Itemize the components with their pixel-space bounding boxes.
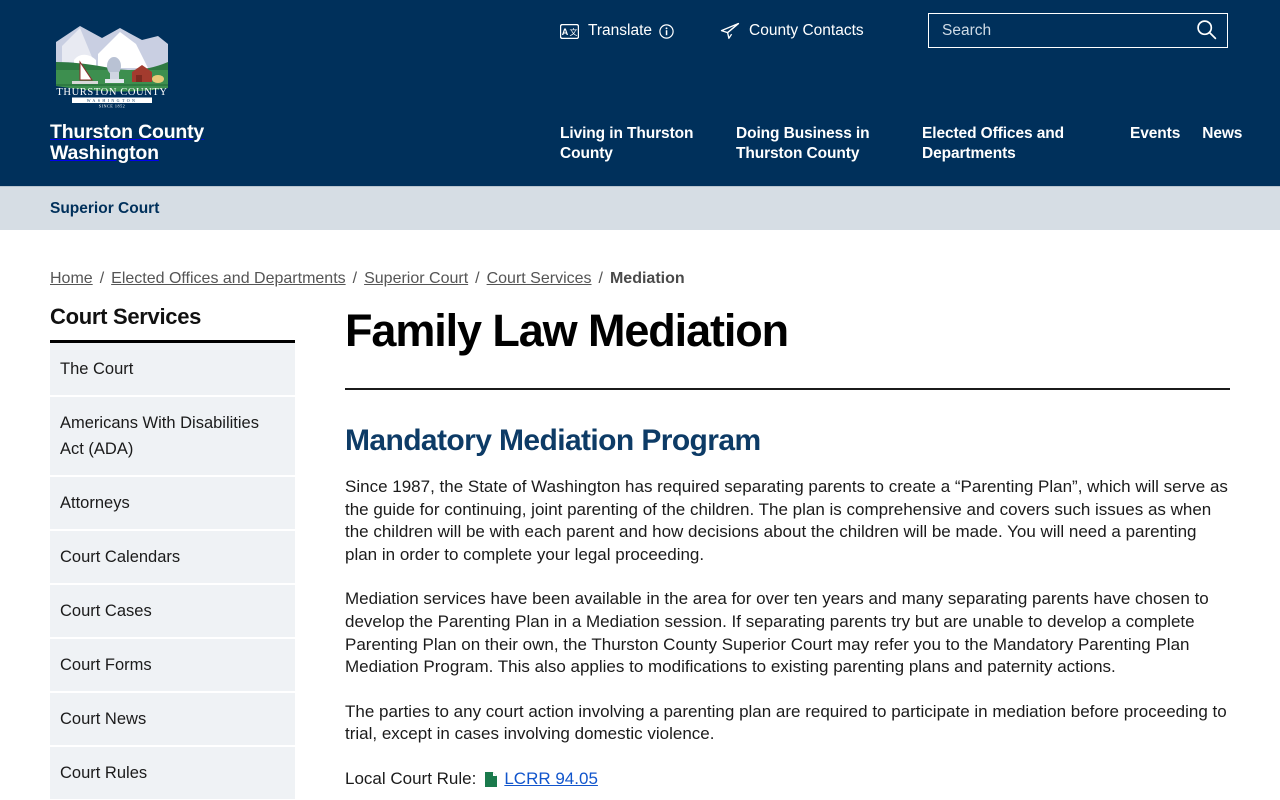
breadcrumb-separator: /: [353, 270, 357, 288]
pdf-file-icon: [484, 771, 498, 788]
breadcrumb-item-current: Mediation: [610, 270, 685, 288]
sidebar-item-the-court[interactable]: The Court: [50, 343, 295, 397]
utility-nav: A 文 Translate County Contacts: [560, 14, 864, 48]
nav-item-events[interactable]: Events: [1130, 124, 1180, 144]
breadcrumb-item-court-services[interactable]: Court Services: [487, 270, 592, 288]
body-paragraph-1: Since 1987, the State of Washington has …: [345, 476, 1230, 566]
search-submit-button[interactable]: [1196, 19, 1217, 43]
local-court-rule-link[interactable]: LCRR 94.05: [504, 768, 598, 791]
county-seal-icon: THURSTON COUNTY WASHINGTON SINCE 1852: [50, 22, 174, 108]
nav-item-doing-business-in-thurston-county[interactable]: Doing Business in Thurston County: [736, 124, 922, 163]
breadcrumb-item-superior-court[interactable]: Superior Court: [364, 270, 468, 288]
site-logo-link[interactable]: THURSTON COUNTY WASHINGTON SINCE 1852 Th…: [50, 22, 280, 163]
svg-text:WASHINGTON: WASHINGTON: [87, 98, 138, 103]
sidebar-item-court-cases[interactable]: Court Cases: [50, 585, 295, 639]
page-title: Family Law Mediation: [345, 304, 1230, 358]
section-heading: Mandatory Mediation Program: [345, 424, 1230, 458]
breadcrumb-separator: /: [475, 270, 479, 288]
sidebar: Court Services The Court Americans With …: [50, 304, 295, 800]
paper-plane-icon: [720, 22, 740, 40]
main-navigation: Living in Thurston County Doing Business…: [560, 124, 1242, 163]
site-wordmark: Thurston County Washington: [50, 122, 280, 163]
body-paragraph-2: Mediation services have been available i…: [345, 588, 1230, 678]
sidebar-item-court-news[interactable]: Court News: [50, 693, 295, 747]
breadcrumb-item-elected-offices[interactable]: Elected Offices and Departments: [111, 270, 346, 288]
sidebar-menu: The Court Americans With Disabilities Ac…: [50, 343, 295, 800]
breadcrumb: Home / Elected Offices and Departments /…: [0, 230, 1280, 288]
nav-item-living-in-thurston-county[interactable]: Living in Thurston County: [560, 124, 736, 163]
department-subheader: Superior Court: [0, 186, 1280, 230]
translate-link[interactable]: A 文 Translate: [560, 22, 674, 40]
wordmark-line-1: Thurston County: [50, 122, 280, 143]
sidebar-item-attorneys[interactable]: Attorneys: [50, 477, 295, 531]
translate-label: Translate: [588, 22, 652, 40]
nav-item-news[interactable]: News: [1202, 124, 1242, 144]
svg-text:A: A: [562, 27, 569, 37]
local-court-rule-line: Local Court Rule: LCRR 94.05: [345, 768, 1230, 791]
title-divider: [345, 388, 1230, 390]
site-header: THURSTON COUNTY WASHINGTON SINCE 1852 Th…: [0, 0, 1280, 186]
sidebar-item-court-forms[interactable]: Court Forms: [50, 639, 295, 693]
sidebar-item-court-rules[interactable]: Court Rules: [50, 747, 295, 800]
wordmark-line-2: Washington: [50, 143, 280, 164]
info-circle-icon[interactable]: [659, 24, 674, 39]
sidebar-item-court-calendars[interactable]: Court Calendars: [50, 531, 295, 585]
svg-text:THURSTON COUNTY: THURSTON COUNTY: [56, 87, 167, 98]
breadcrumb-separator: /: [599, 270, 603, 288]
breadcrumb-item-home[interactable]: Home: [50, 270, 93, 288]
search-box[interactable]: [928, 13, 1228, 48]
translate-icon: A 文: [560, 24, 579, 39]
svg-text:SINCE 1852: SINCE 1852: [99, 104, 126, 109]
page-body: Court Services The Court Americans With …: [0, 288, 1280, 800]
sidebar-title: Court Services: [50, 304, 295, 343]
county-contacts-link[interactable]: County Contacts: [720, 22, 864, 40]
breadcrumb-separator: /: [100, 270, 104, 288]
body-paragraph-3: The parties to any court action involvin…: [345, 701, 1230, 746]
main-content: Family Law Mediation Mandatory Mediation…: [345, 304, 1280, 800]
nav-item-elected-offices-and-departments[interactable]: Elected Offices and Departments: [922, 124, 1108, 163]
subheader-department-link[interactable]: Superior Court: [50, 200, 159, 218]
search-input[interactable]: [942, 22, 1196, 40]
county-contacts-label: County Contacts: [749, 22, 864, 40]
sidebar-item-ada[interactable]: Americans With Disabilities Act (ADA): [50, 397, 295, 477]
local-court-rule-label: Local Court Rule:: [345, 768, 476, 791]
search-icon: [1196, 19, 1217, 43]
svg-text:文: 文: [570, 27, 578, 37]
